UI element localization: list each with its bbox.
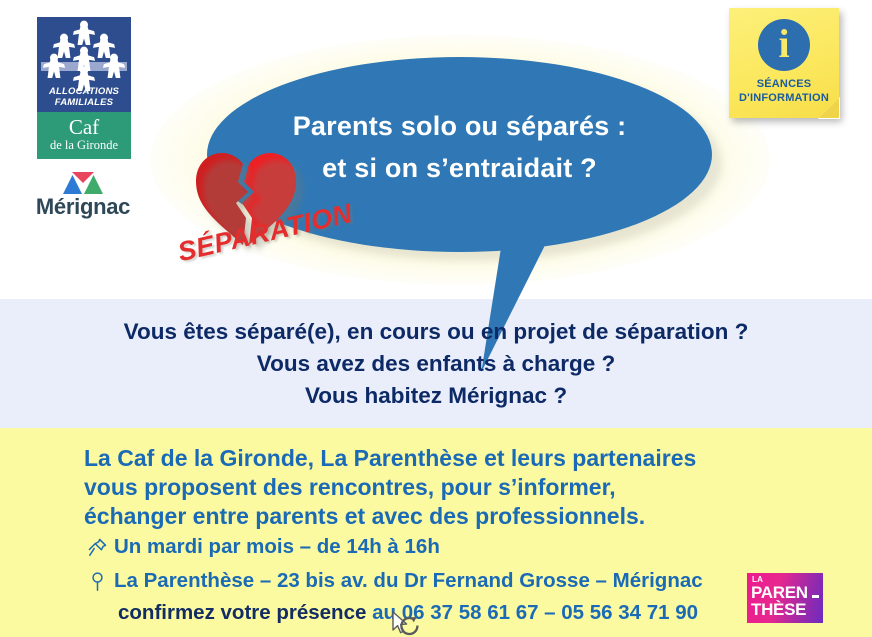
poster-canvas: ALLOCATIONS FAMILIALES Caf de la Gironde… [0,0,872,637]
detail-when-text: Un mardi par mois – de 14h à 16h [114,535,440,559]
caf-logo-top: ALLOCATIONS FAMILIALES [37,17,131,112]
intro-line-3: échanger entre parents et avec des profe… [84,502,824,531]
merignac-logo-label: Mérignac [30,194,136,220]
question-line-3: Vous habitez Mérignac ? [0,380,872,412]
caf-logo-line2: FAMILIALES [55,97,113,108]
mouse-cursor-busy [391,611,421,637]
questions-block: Vous êtes séparé(e), en cours ou en proj… [0,316,872,412]
merignac-triangles-icon [62,172,104,194]
caf-logo-bottom: Caf de la Gironde [37,112,131,159]
detail-where-text: La Parenthèse – 23 bis av. du Dr Fernand… [114,569,703,593]
seances-information-note: i SÉANCES D'INFORMATION [729,8,839,118]
caf-logo-region: de la Gironde [37,138,131,153]
caf-logo-line1: ALLOCATIONS [49,86,119,97]
la-parenthese-logo: LA PAREN THÈSE [747,573,823,623]
family-figures-icon [37,19,131,91]
note-curl-fold [819,98,839,118]
caf-logo-brand: Caf [37,115,131,140]
intro-block: La Caf de la Gironde, La Parenthèse et l… [84,444,824,531]
map-pin-icon [84,568,110,594]
caf-logo-wordmark: ALLOCATIONS FAMILIALES [37,86,131,108]
intro-line-1: La Caf de la Gironde, La Parenthèse et l… [84,444,824,473]
info-circle-icon: i [758,19,810,71]
question-line-2: Vous avez des enfants à charge ? [0,348,872,380]
detail-row-when: Un mardi par mois – de 14h à 16h [84,534,440,560]
parenthese-tick [812,595,819,598]
detail-row-where: La Parenthèse – 23 bis av. du Dr Fernand… [84,568,703,594]
merignac-logo: Mérignac [30,172,136,222]
intro-line-2: vous proposent des rencontres, pour s’in… [84,473,824,502]
note-line1: SÉANCES [729,78,839,90]
pushpin-icon [84,534,110,560]
caf-gironde-logo: ALLOCATIONS FAMILIALES Caf de la Gironde [37,17,131,159]
info-icon-glyph: i [758,20,810,67]
speech-bubble-line1: Parents solo ou séparés : [207,105,712,147]
question-line-1: Vous êtes séparé(e), en cours ou en proj… [0,316,872,348]
parenthese-line2: THÈSE [751,600,806,620]
confirm-prefix: confirmez votre présence [118,601,372,624]
